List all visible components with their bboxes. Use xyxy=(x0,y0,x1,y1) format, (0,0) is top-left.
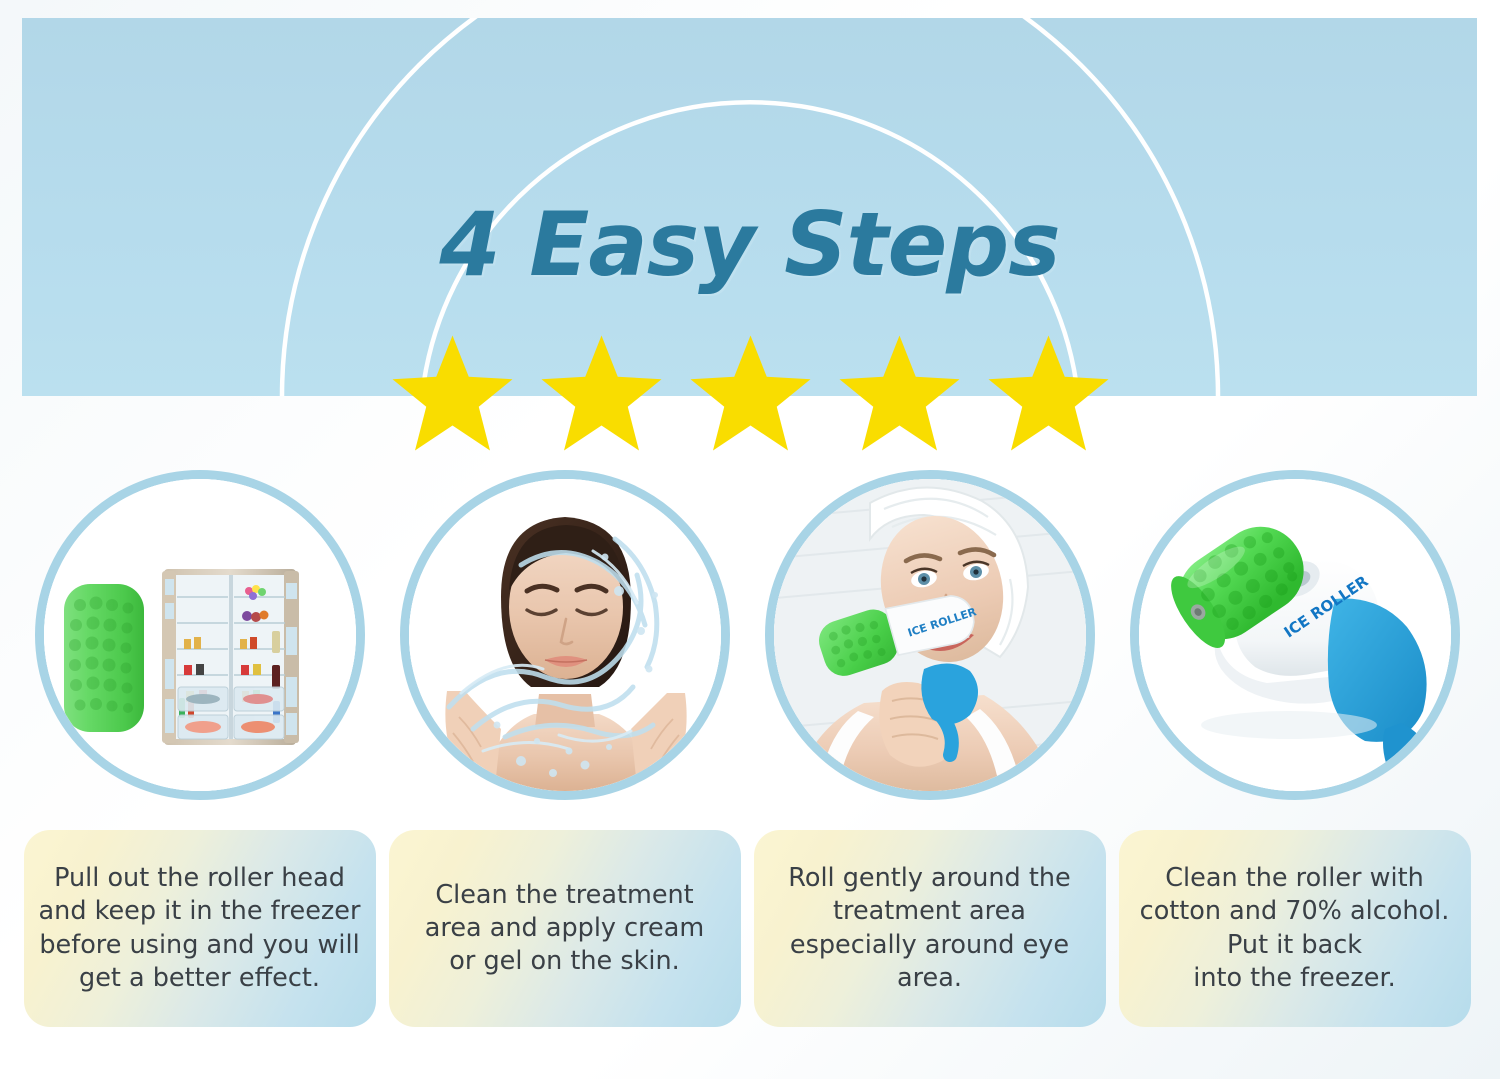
roller-head-and-refrigerator-photo xyxy=(44,479,356,791)
step-4-caption-card: Clean the roller with cotton and 70% alc… xyxy=(1119,830,1471,1027)
step-3-image-circle: ICE ROLLER xyxy=(765,470,1095,800)
step-4-image-circle: ICE ROLLER xyxy=(1130,470,1460,800)
step-3: ICE ROLLER Roll gently around the treatm… xyxy=(752,470,1107,1027)
star-icon xyxy=(837,333,962,453)
star-icon xyxy=(390,333,515,453)
ice-roller-product-photo: ICE ROLLER xyxy=(1139,479,1451,791)
step-2-caption-card: Clean the treatment area and apply cream… xyxy=(389,830,741,1027)
step-3-caption-card: Roll gently around the treatment area es… xyxy=(754,830,1106,1027)
step-2-caption-text: Clean the treatment area and apply cream… xyxy=(425,879,704,978)
step-1-image-circle xyxy=(35,470,365,800)
page-title: 4 Easy Steps xyxy=(22,193,1477,296)
steps-row: Pull out the roller head and keep it in … xyxy=(22,470,1480,1027)
step-2-image-circle xyxy=(400,470,730,800)
woman-using-ice-roller-photo: ICE ROLLER xyxy=(774,479,1086,791)
woman-washing-face-photo xyxy=(409,479,721,791)
star-rating xyxy=(0,333,1500,453)
step-1-caption-card: Pull out the roller head and keep it in … xyxy=(24,830,376,1027)
step-4-caption-text: Clean the roller with cotton and 70% alc… xyxy=(1140,862,1450,995)
step-3-caption-text: Roll gently around the treatment area es… xyxy=(788,862,1070,995)
step-1-caption-text: Pull out the roller head and keep it in … xyxy=(39,862,361,995)
star-icon xyxy=(986,333,1111,453)
step-1: Pull out the roller head and keep it in … xyxy=(22,470,377,1027)
step-4: ICE ROLLER xyxy=(1117,470,1472,1027)
star-icon xyxy=(688,333,813,453)
star-icon xyxy=(539,333,664,453)
infographic-canvas: 4 Easy Steps xyxy=(0,0,1500,1079)
step-2: Clean the treatment area and apply cream… xyxy=(387,470,742,1027)
